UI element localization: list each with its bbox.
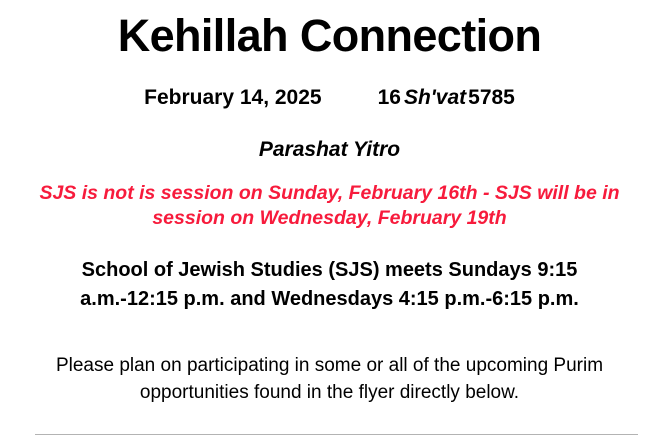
hebrew-year: 5785 bbox=[468, 86, 515, 109]
newsletter-page: Kehillah Connection February 14, 202516S… bbox=[0, 0, 659, 445]
parashat-label: Parashat Yitro bbox=[0, 136, 659, 164]
date-line: February 14, 202516Sh'vat5785 bbox=[0, 84, 659, 112]
hebrew-day: 16 bbox=[378, 86, 401, 109]
page-title: Kehillah Connection bbox=[0, 8, 659, 64]
hebrew-month: Sh'vat bbox=[401, 86, 468, 109]
schedule-change-alert: SJS is not is session on Sunday, Februar… bbox=[38, 181, 621, 231]
civil-date: February 14, 2025 bbox=[144, 84, 321, 112]
purim-participation-note: Please plan on participating in some or … bbox=[34, 352, 625, 406]
sjs-meeting-times: School of Jewish Studies (SJS) meets Sun… bbox=[38, 256, 621, 314]
hebrew-date: 16Sh'vat5785 bbox=[378, 84, 515, 112]
section-divider bbox=[35, 434, 638, 435]
